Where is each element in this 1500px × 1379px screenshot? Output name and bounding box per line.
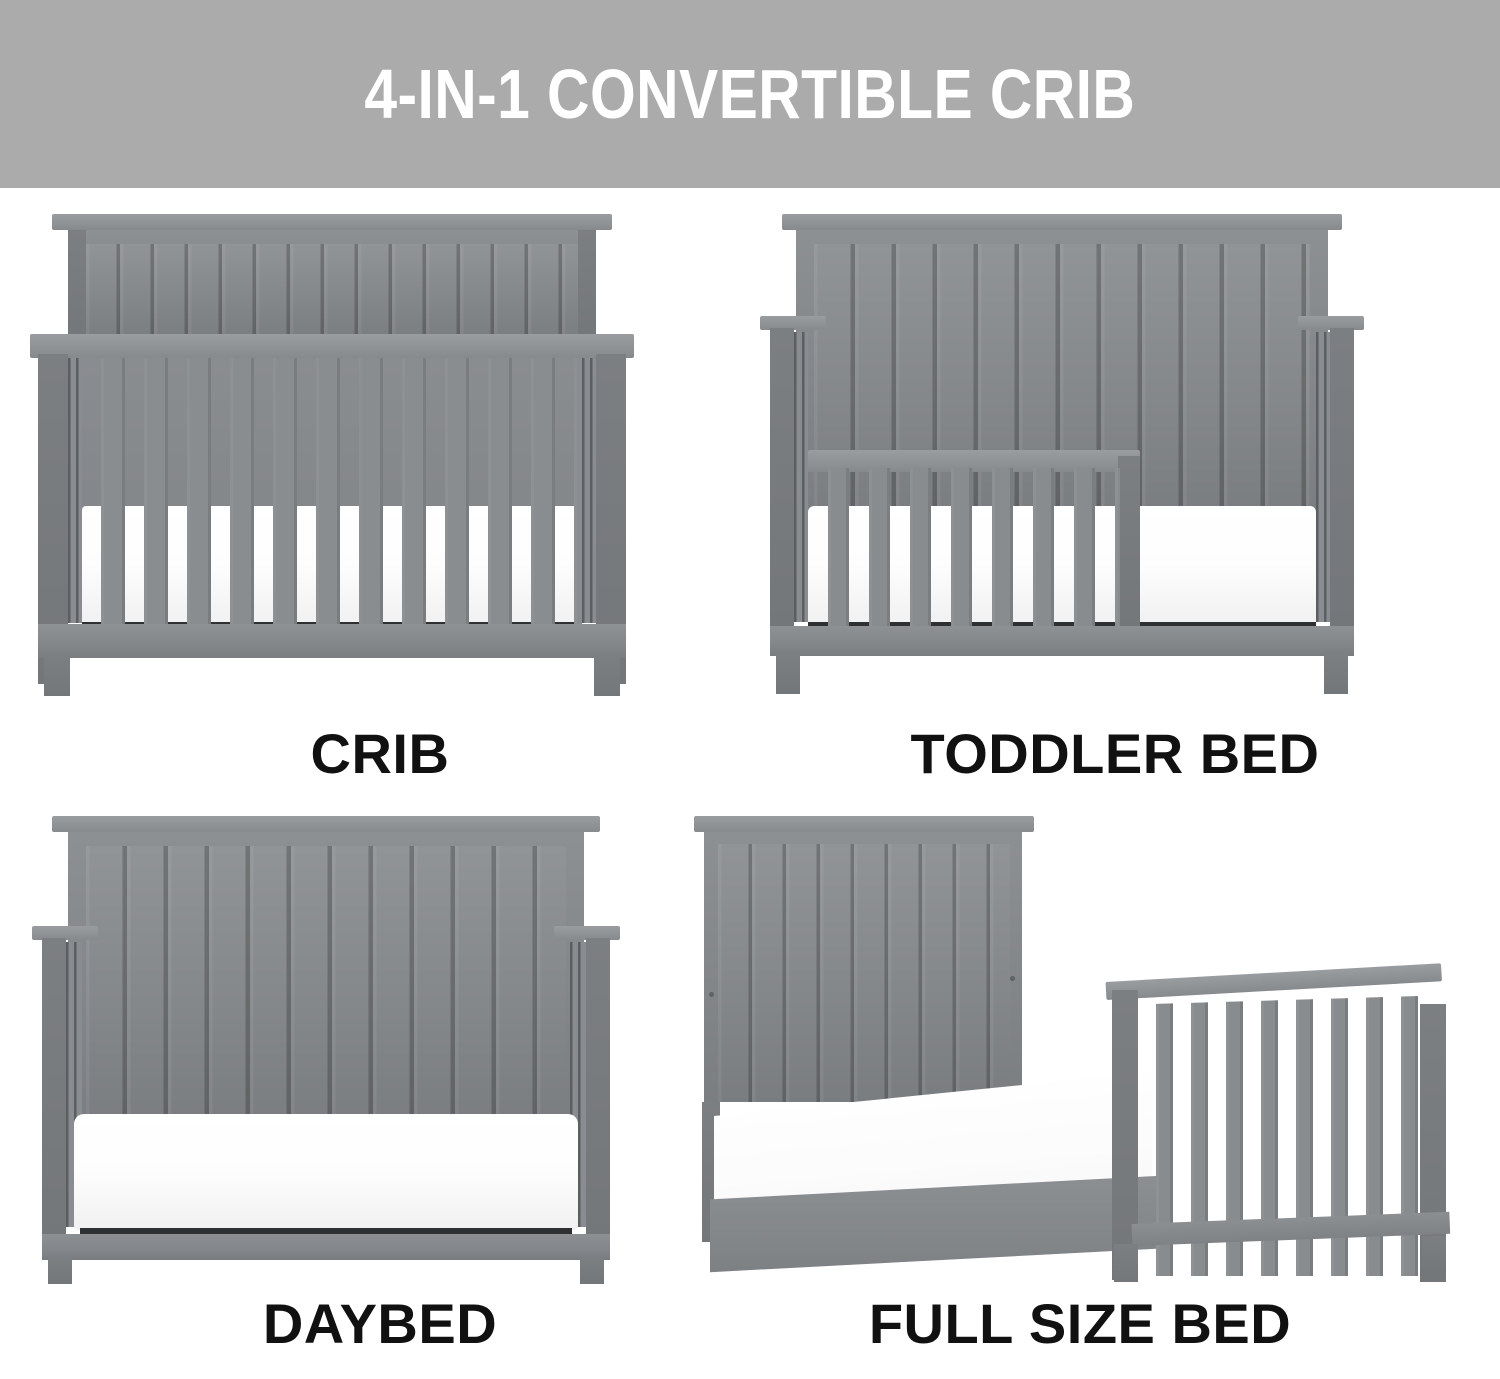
- toddler-bottom-rail: [770, 626, 1354, 656]
- toddler-top-cap: [782, 214, 1342, 230]
- panel-full-size-bed: FULL SIZE BED: [680, 806, 1480, 1379]
- full-headboard-screw-right: [1010, 976, 1015, 981]
- daybed-bottom-rail: [42, 1234, 610, 1260]
- header-band: 4-IN-1 CONVERTIBLE CRIB: [0, 0, 1500, 188]
- crib-top-cap: [52, 214, 612, 230]
- crib-front-slats: [82, 358, 582, 624]
- full-headboard-beadboard: [718, 844, 1010, 1102]
- caption-full-size-bed: FULL SIZE BED: [680, 1296, 1480, 1352]
- toddler-side-slats-right: [1316, 332, 1330, 622]
- page-title: 4-IN-1 CONVERTIBLE CRIB: [365, 59, 1136, 129]
- toddler-bed-illustration: [760, 206, 1470, 698]
- caption-crib: CRIB: [30, 726, 730, 782]
- panel-crib: CRIB: [30, 206, 730, 806]
- toddler-leg-left: [776, 654, 800, 694]
- crib-leg-right: [594, 656, 620, 696]
- panel-toddler-bed: TODDLER BED: [760, 206, 1470, 806]
- daybed-leg-right: [580, 1258, 604, 1284]
- caption-toddler-bed: TODDLER BED: [760, 726, 1470, 782]
- daybed-post-right: [586, 938, 610, 1238]
- crib-side-slats-right: [582, 358, 596, 623]
- full-headboard-top-cap: [694, 816, 1034, 832]
- crib-headboard-beadboard: [86, 244, 578, 340]
- panel-daybed: DAYBED: [30, 806, 730, 1379]
- toddler-side-slats-left: [794, 332, 808, 622]
- product-variant-grid: CRIB: [0, 188, 1500, 1379]
- crib-top-rail: [30, 334, 634, 358]
- daybed-leg-left: [48, 1258, 72, 1284]
- daybed-headboard-beadboard: [86, 846, 566, 1128]
- toddler-post-right: [1330, 328, 1354, 628]
- daybed-top-cap: [52, 816, 600, 832]
- full-footboard-top-cap: [1105, 963, 1441, 1000]
- full-size-bed-illustration: [680, 806, 1480, 1284]
- toddler-leg-right: [1324, 654, 1348, 694]
- crib-headboard-post-right: [578, 230, 596, 340]
- caption-daybed: DAYBED: [30, 1296, 730, 1352]
- full-footboard-leg-front: [1114, 1244, 1138, 1282]
- crib-leg-left: [44, 656, 70, 696]
- full-headboard-screw-left: [709, 992, 714, 997]
- crib-headboard-post-left: [68, 230, 86, 340]
- crib-side-slats-left: [68, 358, 82, 623]
- daybed-illustration: [30, 806, 730, 1284]
- daybed-post-left: [42, 938, 66, 1238]
- toddler-guardrail-slats: [808, 468, 1120, 630]
- toddler-guardrail-end-post: [1118, 456, 1140, 631]
- toddler-post-left: [770, 328, 794, 628]
- crib-illustration: [30, 206, 730, 698]
- crib-bottom-rail: [38, 624, 626, 658]
- daybed-mattress: [74, 1114, 578, 1230]
- full-footboard-leg-back: [1422, 1236, 1446, 1272]
